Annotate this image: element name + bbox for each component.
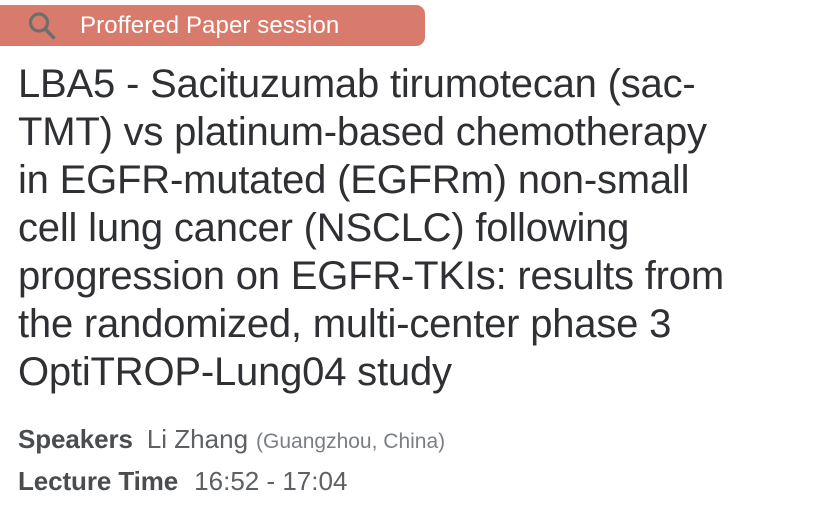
speaker-name[interactable]: Li Zhang xyxy=(147,424,248,455)
lecture-time-row: Lecture Time 16:52 - 17:04 xyxy=(18,466,818,508)
session-type-badge-row: Proffered Paper session xyxy=(0,5,425,46)
speaker-affiliation: (Guangzhou, China) xyxy=(256,430,445,454)
session-type-badge[interactable]: Proffered Paper session xyxy=(0,5,425,46)
search-icon[interactable] xyxy=(24,8,60,44)
session-type-label: Proffered Paper session xyxy=(80,5,339,46)
page-title: LBA5 - Sacituzumab tirumotecan (sac- TMT… xyxy=(18,60,818,396)
speakers-row: Speakers Li Zhang (Guangzhou, China) xyxy=(18,424,818,466)
lecture-time-value: 16:52 - 17:04 xyxy=(194,466,347,497)
session-meta: Speakers Li Zhang (Guangzhou, China) Lec… xyxy=(18,424,818,508)
speakers-label: Speakers xyxy=(18,424,133,455)
session-card: Proffered Paper session LBA5 - Sacituzum… xyxy=(0,0,830,523)
lecture-time-label: Lecture Time xyxy=(18,466,178,497)
